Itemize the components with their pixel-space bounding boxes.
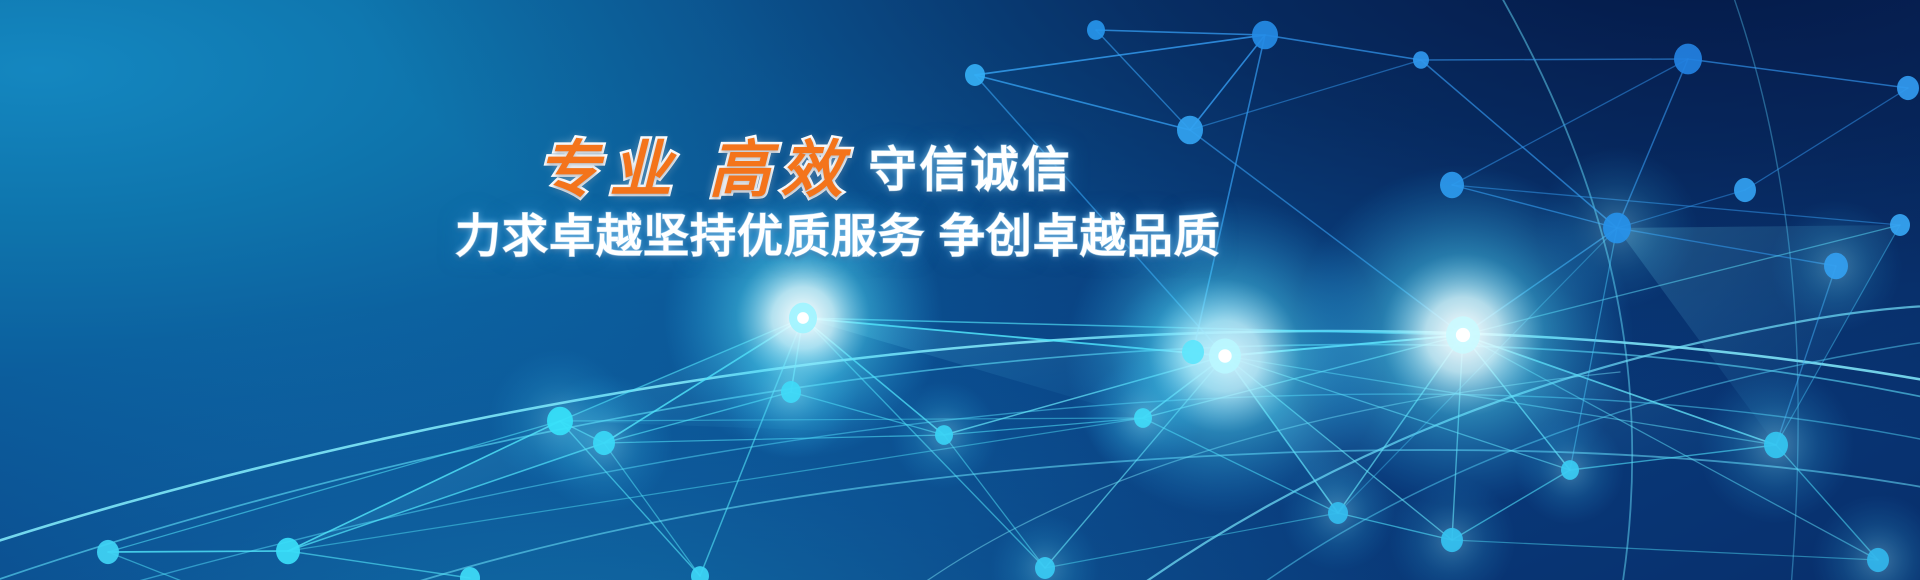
- slogan-block: 专业 高效守信诚信 力求卓越坚持优质服务 争创卓越品质: [455, 140, 1155, 260]
- edge-tr-c: [1421, 59, 1688, 60]
- edge-bl-h: [560, 421, 700, 576]
- edge-bl-o: [944, 418, 1143, 435]
- edge-bl-p: [944, 435, 1045, 568]
- edge-g3-a: [1463, 335, 1776, 445]
- edge-tr-b: [1265, 35, 1421, 60]
- network-nodes: [97, 20, 1919, 580]
- edge-tr-s: [1617, 228, 1836, 266]
- edge-g2-h: [1225, 356, 1776, 445]
- node-tr-4: [1674, 44, 1702, 75]
- edge-ctr-e: [803, 318, 944, 435]
- edge-ctr-c: [604, 318, 803, 443]
- subline-text: 力求卓越坚持优质服务 争创卓越品质: [455, 212, 1155, 260]
- node-bl-1: [97, 540, 119, 564]
- node-m-9-glow: [1812, 494, 1920, 580]
- node-m-5-glow: [1281, 456, 1396, 571]
- edge-bl-g: [560, 421, 604, 443]
- node-m-2: [593, 431, 615, 455]
- edge-bl-f: [108, 552, 230, 580]
- edge-tr-e: [1190, 35, 1265, 130]
- edge-tr-n: [1617, 59, 1688, 228]
- edge-br-d: [1776, 445, 1878, 560]
- edge-tr-a: [1096, 30, 1265, 35]
- node-b-2: [691, 566, 709, 580]
- node-m-1: [781, 381, 801, 403]
- node-m-8: [1764, 432, 1788, 458]
- node-r-2: [1824, 253, 1848, 279]
- node-c-5: [1890, 214, 1910, 236]
- node-tr-1: [1252, 21, 1278, 50]
- edge-g2-e: [1045, 356, 1225, 568]
- edge-ctr-b: [803, 318, 1463, 335]
- node-r-1: [1603, 213, 1631, 244]
- network-arcs: [0, 0, 1920, 580]
- edge-tr-t: [1463, 228, 1617, 335]
- node-bl-3-glow: [489, 350, 632, 493]
- edge-tr-q: [1452, 185, 1617, 228]
- edge-g2-d: [944, 356, 1225, 435]
- node-g-3-glow: [1293, 165, 1633, 505]
- node-g-1-glow: [663, 178, 943, 458]
- edge-ctr-f: [560, 318, 803, 421]
- edge-bl-k: [604, 392, 791, 443]
- node-c-4: [1734, 178, 1756, 202]
- node-g-3-core: [1456, 328, 1470, 342]
- node-tr-3: [1413, 51, 1429, 69]
- node-c-1: [965, 64, 985, 86]
- edge-bl-m: [604, 443, 700, 576]
- node-g-2-glow: [1065, 196, 1385, 516]
- edge-br-b: [1452, 470, 1570, 540]
- edge-bl-e: [288, 551, 470, 578]
- node-tr-5: [1897, 76, 1919, 100]
- edge-g2-b: [1143, 356, 1225, 418]
- edge-g3-e: [1463, 225, 1900, 335]
- edge-tr-o: [1452, 59, 1688, 185]
- edge-tr-l: [1190, 60, 1421, 130]
- node-m-6: [1441, 528, 1463, 552]
- globe-arc-b: [1720, 0, 1798, 580]
- node-c-2: [1177, 116, 1203, 145]
- node-m-3: [935, 425, 953, 445]
- edge-bl-c: [288, 443, 604, 551]
- edge-tr-j: [1193, 35, 1265, 352]
- edge-br-a: [1338, 513, 1452, 540]
- edge-tr-f: [1096, 30, 1190, 130]
- node-m-3-glow: [890, 381, 998, 489]
- edge-g2-f: [1225, 356, 1452, 540]
- sweep-arc-far: [1240, 338, 1920, 580]
- edge-g2-a: [1225, 335, 1463, 356]
- edge-tr-h: [975, 75, 1190, 130]
- sweep-arc-bottom: [360, 450, 1920, 580]
- node-m-5: [1328, 502, 1348, 524]
- node-b-1: [1035, 557, 1055, 579]
- edge-bl-n: [791, 392, 944, 435]
- node-g-4-glow: [1111, 270, 1276, 435]
- node-bl-4: [460, 567, 480, 580]
- edge-ctr-a: [803, 318, 1225, 356]
- node-m-1-glow: [724, 325, 859, 460]
- node-m-4: [1134, 408, 1152, 428]
- edge-tr-u: [1776, 266, 1836, 445]
- edge-br-f: [1570, 228, 1617, 470]
- node-b-1-glow: [990, 513, 1100, 580]
- node-r-2-glow: [1770, 200, 1902, 332]
- edge-br-h: [1338, 228, 1617, 513]
- edge-bl-a: [108, 551, 288, 552]
- edge-br-e: [1452, 540, 1878, 560]
- node-g-2-core: [1218, 349, 1231, 362]
- node-m-2-glow: [535, 374, 673, 512]
- node-g-1: [789, 303, 817, 334]
- edge-bl-q: [1143, 418, 1338, 513]
- network-graphic: [0, 0, 1920, 580]
- edge-ctr-d: [791, 318, 803, 392]
- edge-ctr-h: [803, 318, 1045, 568]
- headline-plain-text: 守信诚信: [869, 144, 1073, 197]
- edge-tr-p: [1745, 88, 1908, 190]
- network-edges: [108, 30, 1908, 580]
- edge-bl-b: [288, 421, 560, 551]
- edge-g3-f: [1463, 335, 1878, 560]
- sweep-arc-right: [1120, 304, 1920, 580]
- edge-tr-k: [1190, 130, 1463, 335]
- network-glows: [489, 148, 1920, 580]
- edge-br-g: [1776, 225, 1900, 445]
- edge-bl-d: [108, 421, 560, 552]
- node-g-3: [1446, 316, 1480, 353]
- node-m-9: [1867, 548, 1889, 572]
- corner-shade-cyan: [0, 0, 1920, 580]
- edge-br-c: [1570, 445, 1776, 470]
- node-bl-2: [276, 538, 300, 564]
- corner-shade-dark: [0, 0, 1920, 580]
- headline: 专业 高效守信诚信: [455, 140, 1155, 202]
- node-m-7-glow: [1516, 416, 1624, 524]
- node-g-4: [1182, 340, 1204, 364]
- edge-ctr-g: [700, 318, 803, 576]
- node-c-3: [1440, 172, 1464, 198]
- edge-bl-i: [288, 418, 1143, 551]
- edge-g2-c: [1225, 356, 1338, 513]
- edge-bl-l: [604, 435, 944, 443]
- sweep-arc-major: [0, 331, 1920, 560]
- edge-tr-v: [1617, 190, 1745, 228]
- edge-tr-i: [975, 75, 1225, 356]
- node-m-7: [1561, 460, 1579, 480]
- edge-g2-g: [1225, 356, 1570, 470]
- edge-g3-d: [1452, 335, 1463, 540]
- node-m-8-glow: [1698, 367, 1854, 523]
- headline-accent-text: 专业 高效: [537, 136, 852, 205]
- edge-tr-m: [1421, 60, 1617, 228]
- node-m-6-glow: [1389, 477, 1516, 580]
- facet-shards: [288, 225, 1900, 551]
- sweep-arc-upper: [0, 344, 1920, 580]
- edge-tr-r: [1452, 185, 1900, 225]
- globe-arc-c: [900, 372, 1620, 580]
- node-tr-2: [1087, 20, 1105, 40]
- edge-bl-j: [560, 418, 1143, 421]
- node-g-2: [1209, 338, 1241, 373]
- hero-banner: 专业 高效守信诚信 力求卓越坚持优质服务 争创卓越品质: [0, 0, 1920, 580]
- edge-g3-g: [1143, 335, 1463, 418]
- edge-g3-c: [1338, 335, 1463, 513]
- edge-g3-b: [1463, 335, 1570, 470]
- node-g-1-core: [797, 312, 809, 324]
- node-m-4-glow: [1085, 360, 1202, 477]
- globe-arc-a: [1480, 0, 1632, 580]
- edge-tr-g: [975, 35, 1265, 75]
- sweep-arc-lower: [0, 394, 1920, 580]
- node-bl-3: [547, 407, 573, 436]
- node-r-1-glow: [1537, 148, 1698, 309]
- edge-bl-r: [1045, 513, 1338, 568]
- edge-tr-d: [1688, 59, 1908, 88]
